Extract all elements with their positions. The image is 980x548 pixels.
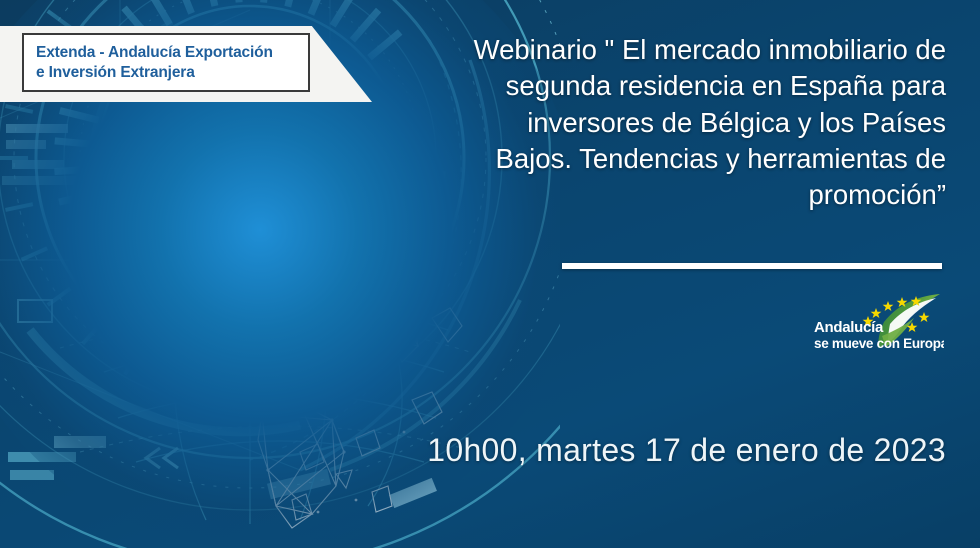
organization-banner-box: Extenda - Andalucía Exportación e Invers…	[22, 33, 310, 92]
webinar-title: Webinario " El mercado inmobiliario de s…	[446, 32, 946, 213]
title-divider-rule	[562, 263, 942, 269]
organization-name: Extenda - Andalucía Exportación e Invers…	[36, 43, 273, 82]
andalucia-europa-logo-svg: Andalucía se mueve con Europa	[812, 288, 944, 352]
logo-line1: Andalucía	[814, 319, 884, 336]
andalucia-europa-logo: Andalucía se mueve con Europa	[812, 288, 944, 352]
event-datetime: 10h00, martes 17 de enero de 2023	[426, 430, 946, 472]
promo-banner: Extenda - Andalucía Exportación e Invers…	[0, 0, 980, 548]
logo-line2: se mueve con Europa	[814, 336, 944, 351]
